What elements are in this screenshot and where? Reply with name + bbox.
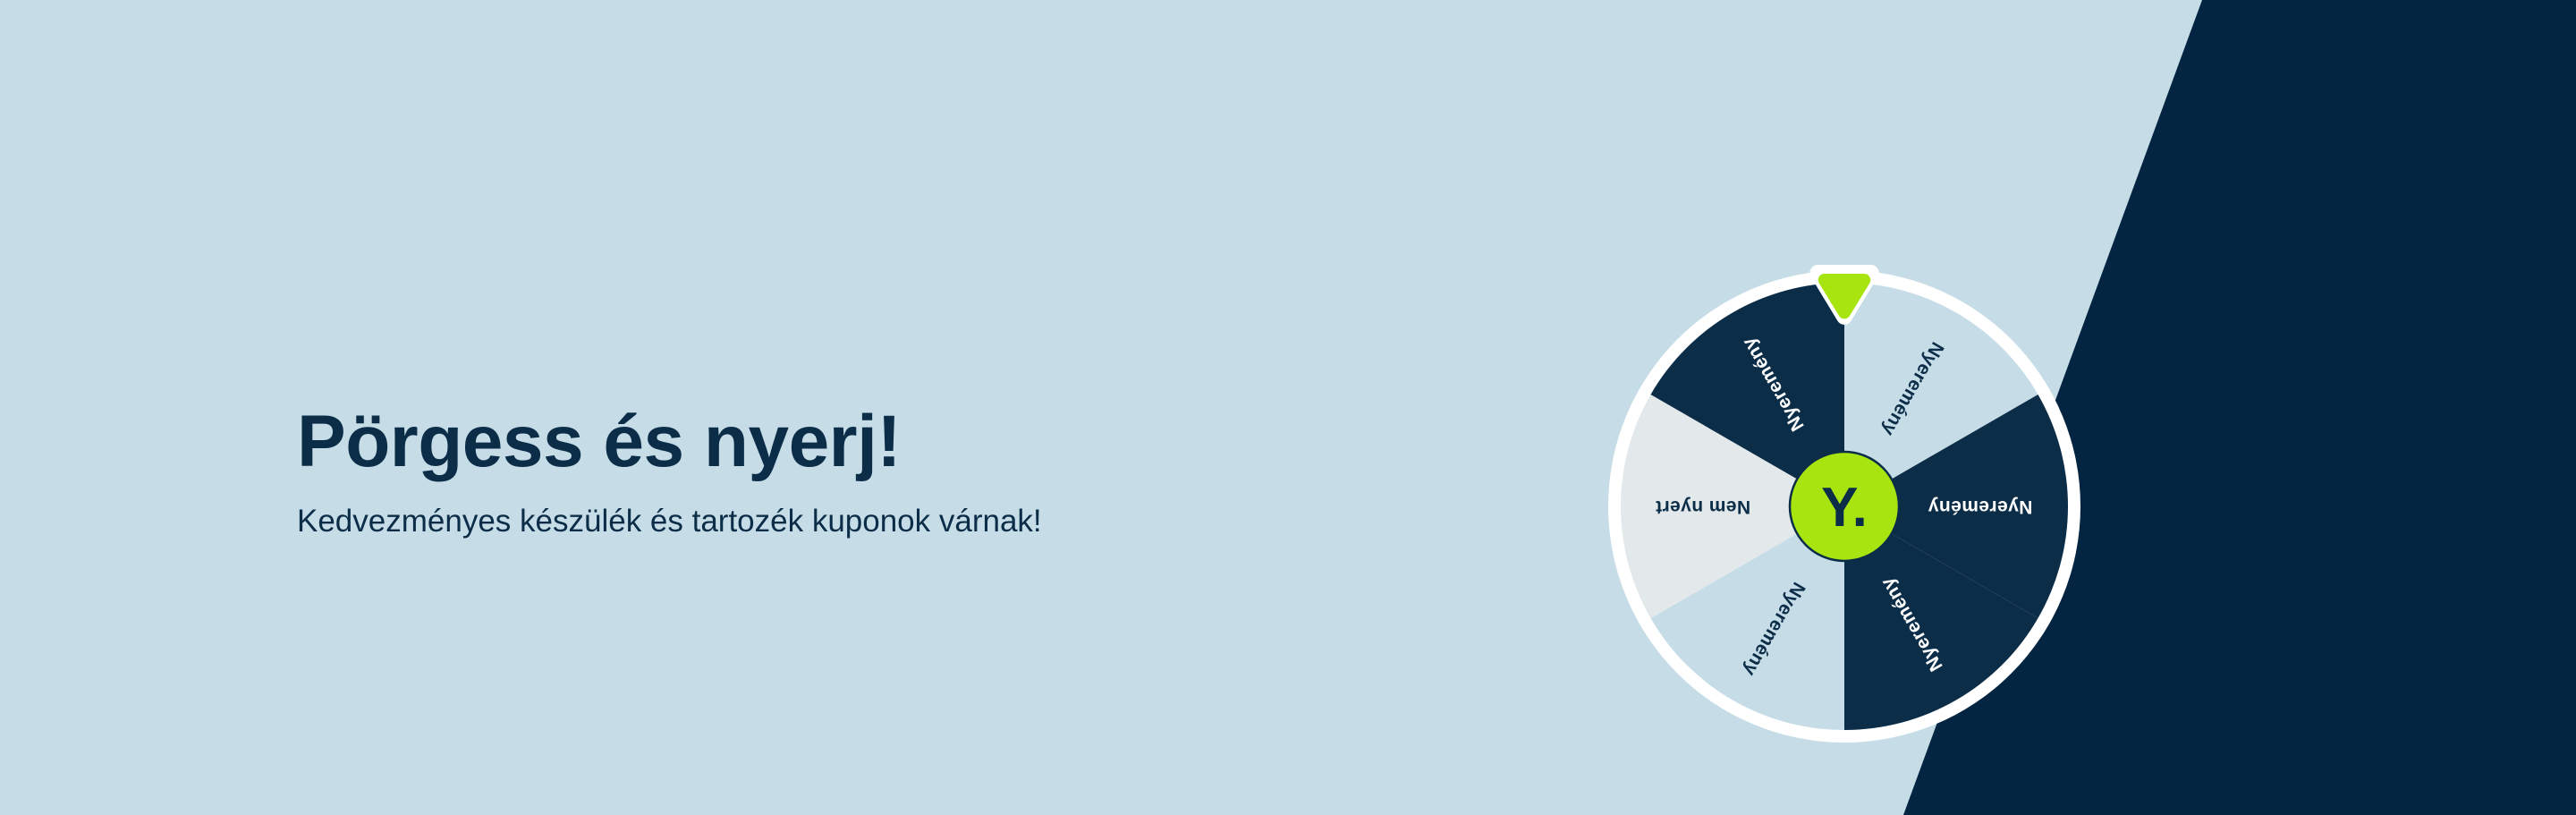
wheel-segment-label: Nyeremény	[1928, 497, 2032, 517]
page-subtitle: Kedvezményes készülék és tartozék kupono…	[297, 503, 1370, 540]
spin-and-win-banner: Pörgess és nyerj! Kedvezményes készülék …	[0, 0, 2576, 815]
wheel-hub[interactable]: Y.	[1790, 452, 1899, 561]
page-title: Pörgess és nyerj!	[297, 404, 1370, 480]
banner-copy: Pörgess és nyerj! Kedvezményes készülék …	[297, 404, 1370, 540]
brand-logo-y: Y.	[1821, 477, 1868, 539]
prize-wheel[interactable]: NyereményNyereményNyereményNyereményNem …	[1599, 261, 2089, 751]
wheel-segment-label: Nem nyert	[1656, 497, 1750, 517]
